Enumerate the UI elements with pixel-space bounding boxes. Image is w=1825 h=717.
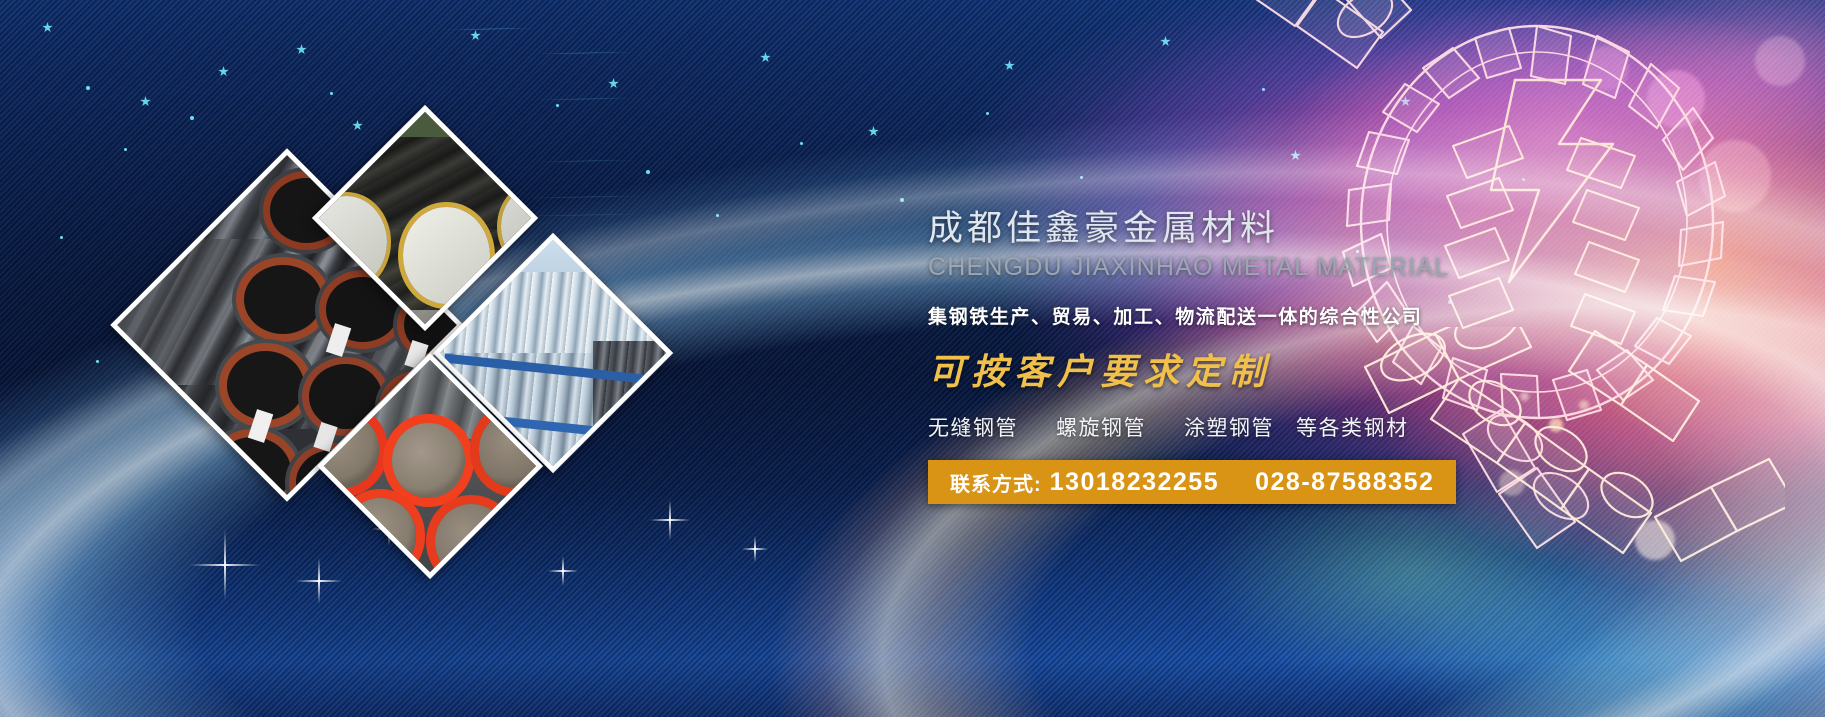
- headline-custom-made: 可按客户要求定制: [928, 343, 1488, 395]
- contact-phone-mobile[interactable]: 13018232255: [1050, 468, 1219, 497]
- contact-phone-landline[interactable]: 028-87588352: [1255, 468, 1434, 497]
- promo-banner: 成都佳鑫豪金属材料 CHENGDU JIAXINHAO METAL MATERI…: [0, 0, 1825, 717]
- company-name-en: CHENGDU JIAXINHAO METAL MATERIAL: [928, 253, 1488, 282]
- product-list: 无缝钢管 螺旋钢管 涂塑钢管 等各类钢材: [928, 412, 1488, 442]
- company-tagline: 集钢铁生产、贸易、加工、物流配送一体的综合性公司: [928, 302, 1488, 329]
- product-item-spiral: 螺旋钢管: [1056, 412, 1146, 442]
- product-item-coated: 涂塑钢管: [1184, 412, 1274, 442]
- product-item-other: 等各类钢材: [1296, 412, 1409, 442]
- contact-label: 联系方式:: [950, 468, 1042, 497]
- product-photo-collage: [150, 118, 670, 558]
- banner-copy: 成都佳鑫豪金属材料 CHENGDU JIAXINHAO METAL MATERI…: [928, 208, 1488, 504]
- contact-bar[interactable]: 联系方式: 13018232255 028-87588352: [928, 460, 1456, 504]
- product-item-seamless: 无缝钢管: [928, 412, 1018, 442]
- company-name-cn: 成都佳鑫豪金属材料: [928, 208, 1488, 249]
